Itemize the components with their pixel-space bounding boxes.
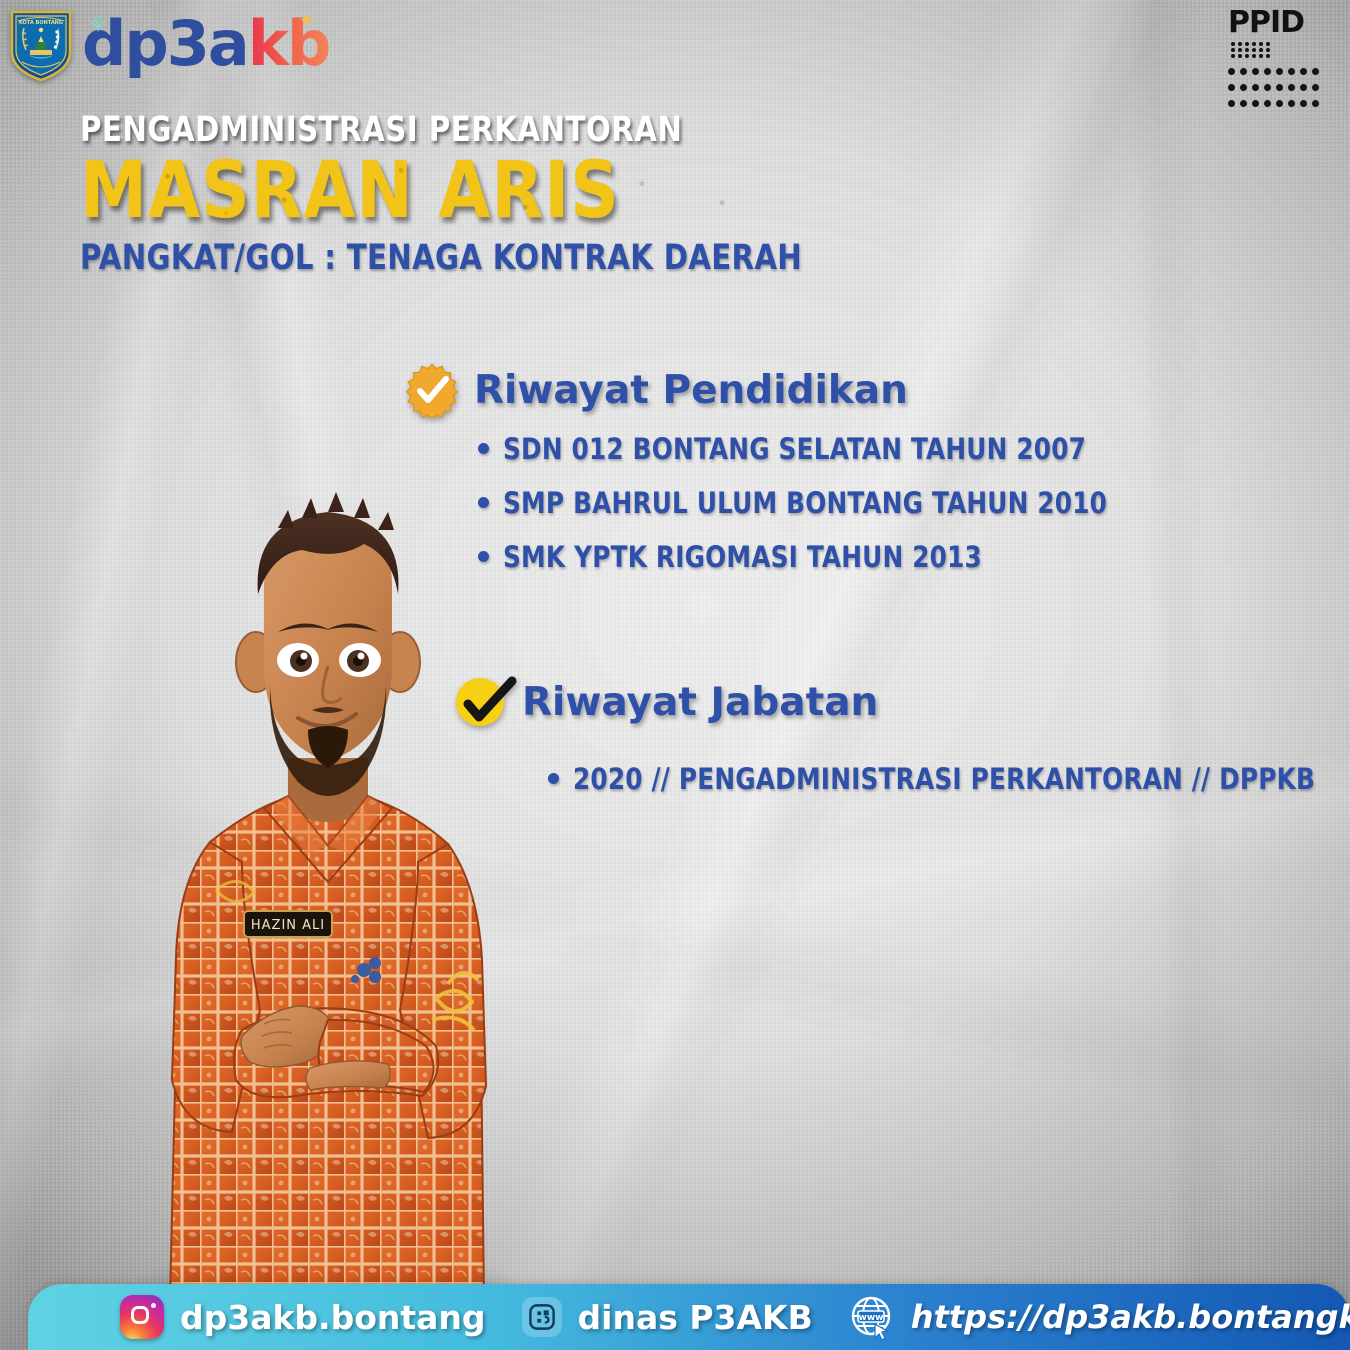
facebook-icon[interactable] — [522, 1297, 562, 1337]
bullet-dot-icon — [478, 551, 489, 562]
ppid-mini-dot-grid — [1231, 42, 1270, 58]
education-item-text: SMP BAHRUL ULUM BONTANG TAHUN 2010 — [503, 486, 1107, 520]
education-item-text: SDN 012 BONTANG SELATAN TAHUN 2007 — [503, 432, 1086, 466]
facebook-contact[interactable]: dinas P3AKB — [522, 1297, 813, 1337]
job-history-section: Riwayat Jabatan 2020 // PENGADMINISTRASI… — [456, 676, 1256, 816]
ppid-label: PPID — [1228, 8, 1304, 38]
svg-text:www: www — [858, 1313, 883, 1323]
education-list: SDN 012 BONTANG SELATAN TAHUN 2007 SMP B… — [478, 432, 1104, 574]
instagram-handle[interactable]: dp3akb.bontang — [180, 1298, 486, 1337]
globe-icon[interactable]: www — [849, 1294, 895, 1340]
job-history-title: Riwayat Jabatan — [522, 683, 878, 722]
dp3akb-wordmark: ⚘ ✦ dp3akb — [82, 8, 329, 80]
list-item: SMK YPTK RIGOMASI TAHUN 2013 — [478, 540, 1104, 574]
job-role-title: PENGADMINISTRASI PERKANTORAN — [80, 110, 787, 150]
check-badge-icon — [404, 362, 460, 418]
website-contact[interactable]: www https://dp3akb.bontangkota.go.id/ — [849, 1294, 1350, 1340]
list-item: 2020 // PENGADMINISTRASI PERKANTORAN // … — [548, 762, 1256, 796]
character-illustration: HAZIN ALI — [92, 490, 562, 1300]
education-title: Riwayat Pendidikan — [474, 371, 908, 410]
instagram-contact[interactable]: dp3akb.bontang — [120, 1295, 486, 1339]
bullet-dot-icon — [548, 773, 559, 784]
website-url[interactable]: https://dp3akb.bontangkota.go.id/ — [911, 1298, 1350, 1336]
instagram-icon[interactable] — [120, 1295, 164, 1339]
svg-text:HAZIN ALI: HAZIN ALI — [251, 918, 325, 933]
wordmark-deco-sparkle-icon: ✦ — [299, 8, 316, 33]
education-section-header: Riwayat Pendidikan — [404, 362, 1104, 418]
bullet-dot-icon — [478, 497, 489, 508]
person-name-title: MASRAN ARIS — [80, 154, 810, 228]
brand-logo-group: KOTA BONTANG ⚘ ✦ dp3 — [8, 6, 329, 82]
check-circle-icon — [456, 676, 508, 728]
bullet-dot-icon — [478, 443, 489, 454]
ppid-dot-grid — [1228, 66, 1336, 107]
headline-block: PENGADMINISTRASI PERKANTORAN MASRAN ARIS… — [80, 110, 840, 278]
list-item: SDN 012 BONTANG SELATAN TAHUN 2007 — [478, 432, 1104, 466]
education-section: Riwayat Pendidikan SDN 012 BONTANG SELAT… — [404, 362, 1104, 594]
education-item-text: SMK YPTK RIGOMASI TAHUN 2013 — [503, 540, 982, 574]
wordmark-deco-leaf-icon: ⚘ — [88, 12, 108, 38]
job-history-section-header: Riwayat Jabatan — [456, 676, 1256, 728]
rank-subtitle: PANGKAT/GOL : TENAGA KONTRAK DAERAH — [80, 238, 787, 278]
facebook-page-name[interactable]: dinas P3AKB — [578, 1298, 813, 1337]
ppid-badge: PPID — [1228, 8, 1336, 107]
poster-root: KOTA BONTANG ⚘ ✦ dp3 — [0, 0, 1350, 1350]
job-history-list: 2020 // PENGADMINISTRASI PERKANTORAN // … — [548, 762, 1256, 796]
job-history-item-text: 2020 // PENGADMINISTRASI PERKANTORAN // … — [573, 762, 1315, 796]
list-item: SMP BAHRUL ULUM BONTANG TAHUN 2010 — [478, 486, 1104, 520]
svg-text:KOTA BONTANG: KOTA BONTANG — [19, 20, 63, 26]
name-badge: HAZIN ALI — [244, 911, 332, 937]
kota-bontang-emblem-icon: KOTA BONTANG — [8, 6, 74, 82]
wordmark-text-accent: kb — [248, 13, 330, 75]
footer-contact-bar: dp3akb.bontang dinas P3AKB ww — [28, 1284, 1350, 1350]
